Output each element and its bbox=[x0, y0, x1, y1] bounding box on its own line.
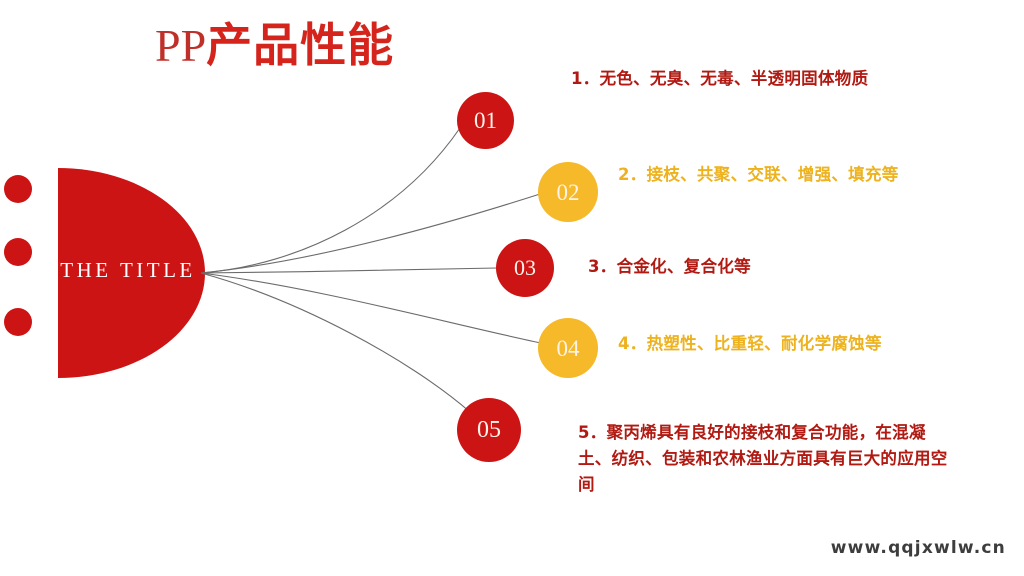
item-text-02: 2．接枝、共聚、交联、增强、填充等 bbox=[618, 162, 938, 188]
slide-canvas: PP产品性能 THE TITLE 01 02 03 04 05 1．无色、无臭、… bbox=[0, 0, 1024, 576]
bubble-05[interactable]: 05 bbox=[457, 398, 521, 462]
connector-line-02 bbox=[201, 194, 540, 273]
bubble-02[interactable]: 02 bbox=[538, 162, 598, 222]
bubble-04[interactable]: 04 bbox=[538, 318, 598, 378]
bubble-03[interactable]: 03 bbox=[496, 239, 554, 297]
item-text-03: 3．合金化、复合化等 bbox=[588, 254, 928, 280]
connector-line-03 bbox=[201, 268, 497, 273]
bubble-01[interactable]: 01 bbox=[457, 92, 514, 149]
page-title-latin: PP bbox=[155, 20, 206, 71]
item-text-04: 4．热塑性、比重轻、耐化学腐蚀等 bbox=[618, 331, 938, 357]
hub-dot-1 bbox=[4, 175, 32, 203]
hub-dot-2 bbox=[4, 238, 32, 266]
hub-title-label: THE TITLE bbox=[58, 258, 198, 283]
connector-line-01 bbox=[201, 128, 460, 273]
watermark: www.qqjxwlw.cn bbox=[831, 538, 1006, 558]
connector-line-05 bbox=[201, 273, 470, 412]
page-title-cjk: 产品性能 bbox=[206, 18, 394, 72]
item-text-01: 1．无色、无臭、无毒、半透明固体物质 bbox=[571, 66, 936, 92]
connector-line-04 bbox=[201, 273, 541, 343]
item-text-05: 5．聚丙烯具有良好的接枝和复合功能，在混凝土、纺织、包装和农林渔业方面具有巨大的… bbox=[578, 420, 948, 498]
hub-dot-3 bbox=[4, 308, 32, 336]
page-title: PP产品性能 bbox=[155, 22, 394, 69]
